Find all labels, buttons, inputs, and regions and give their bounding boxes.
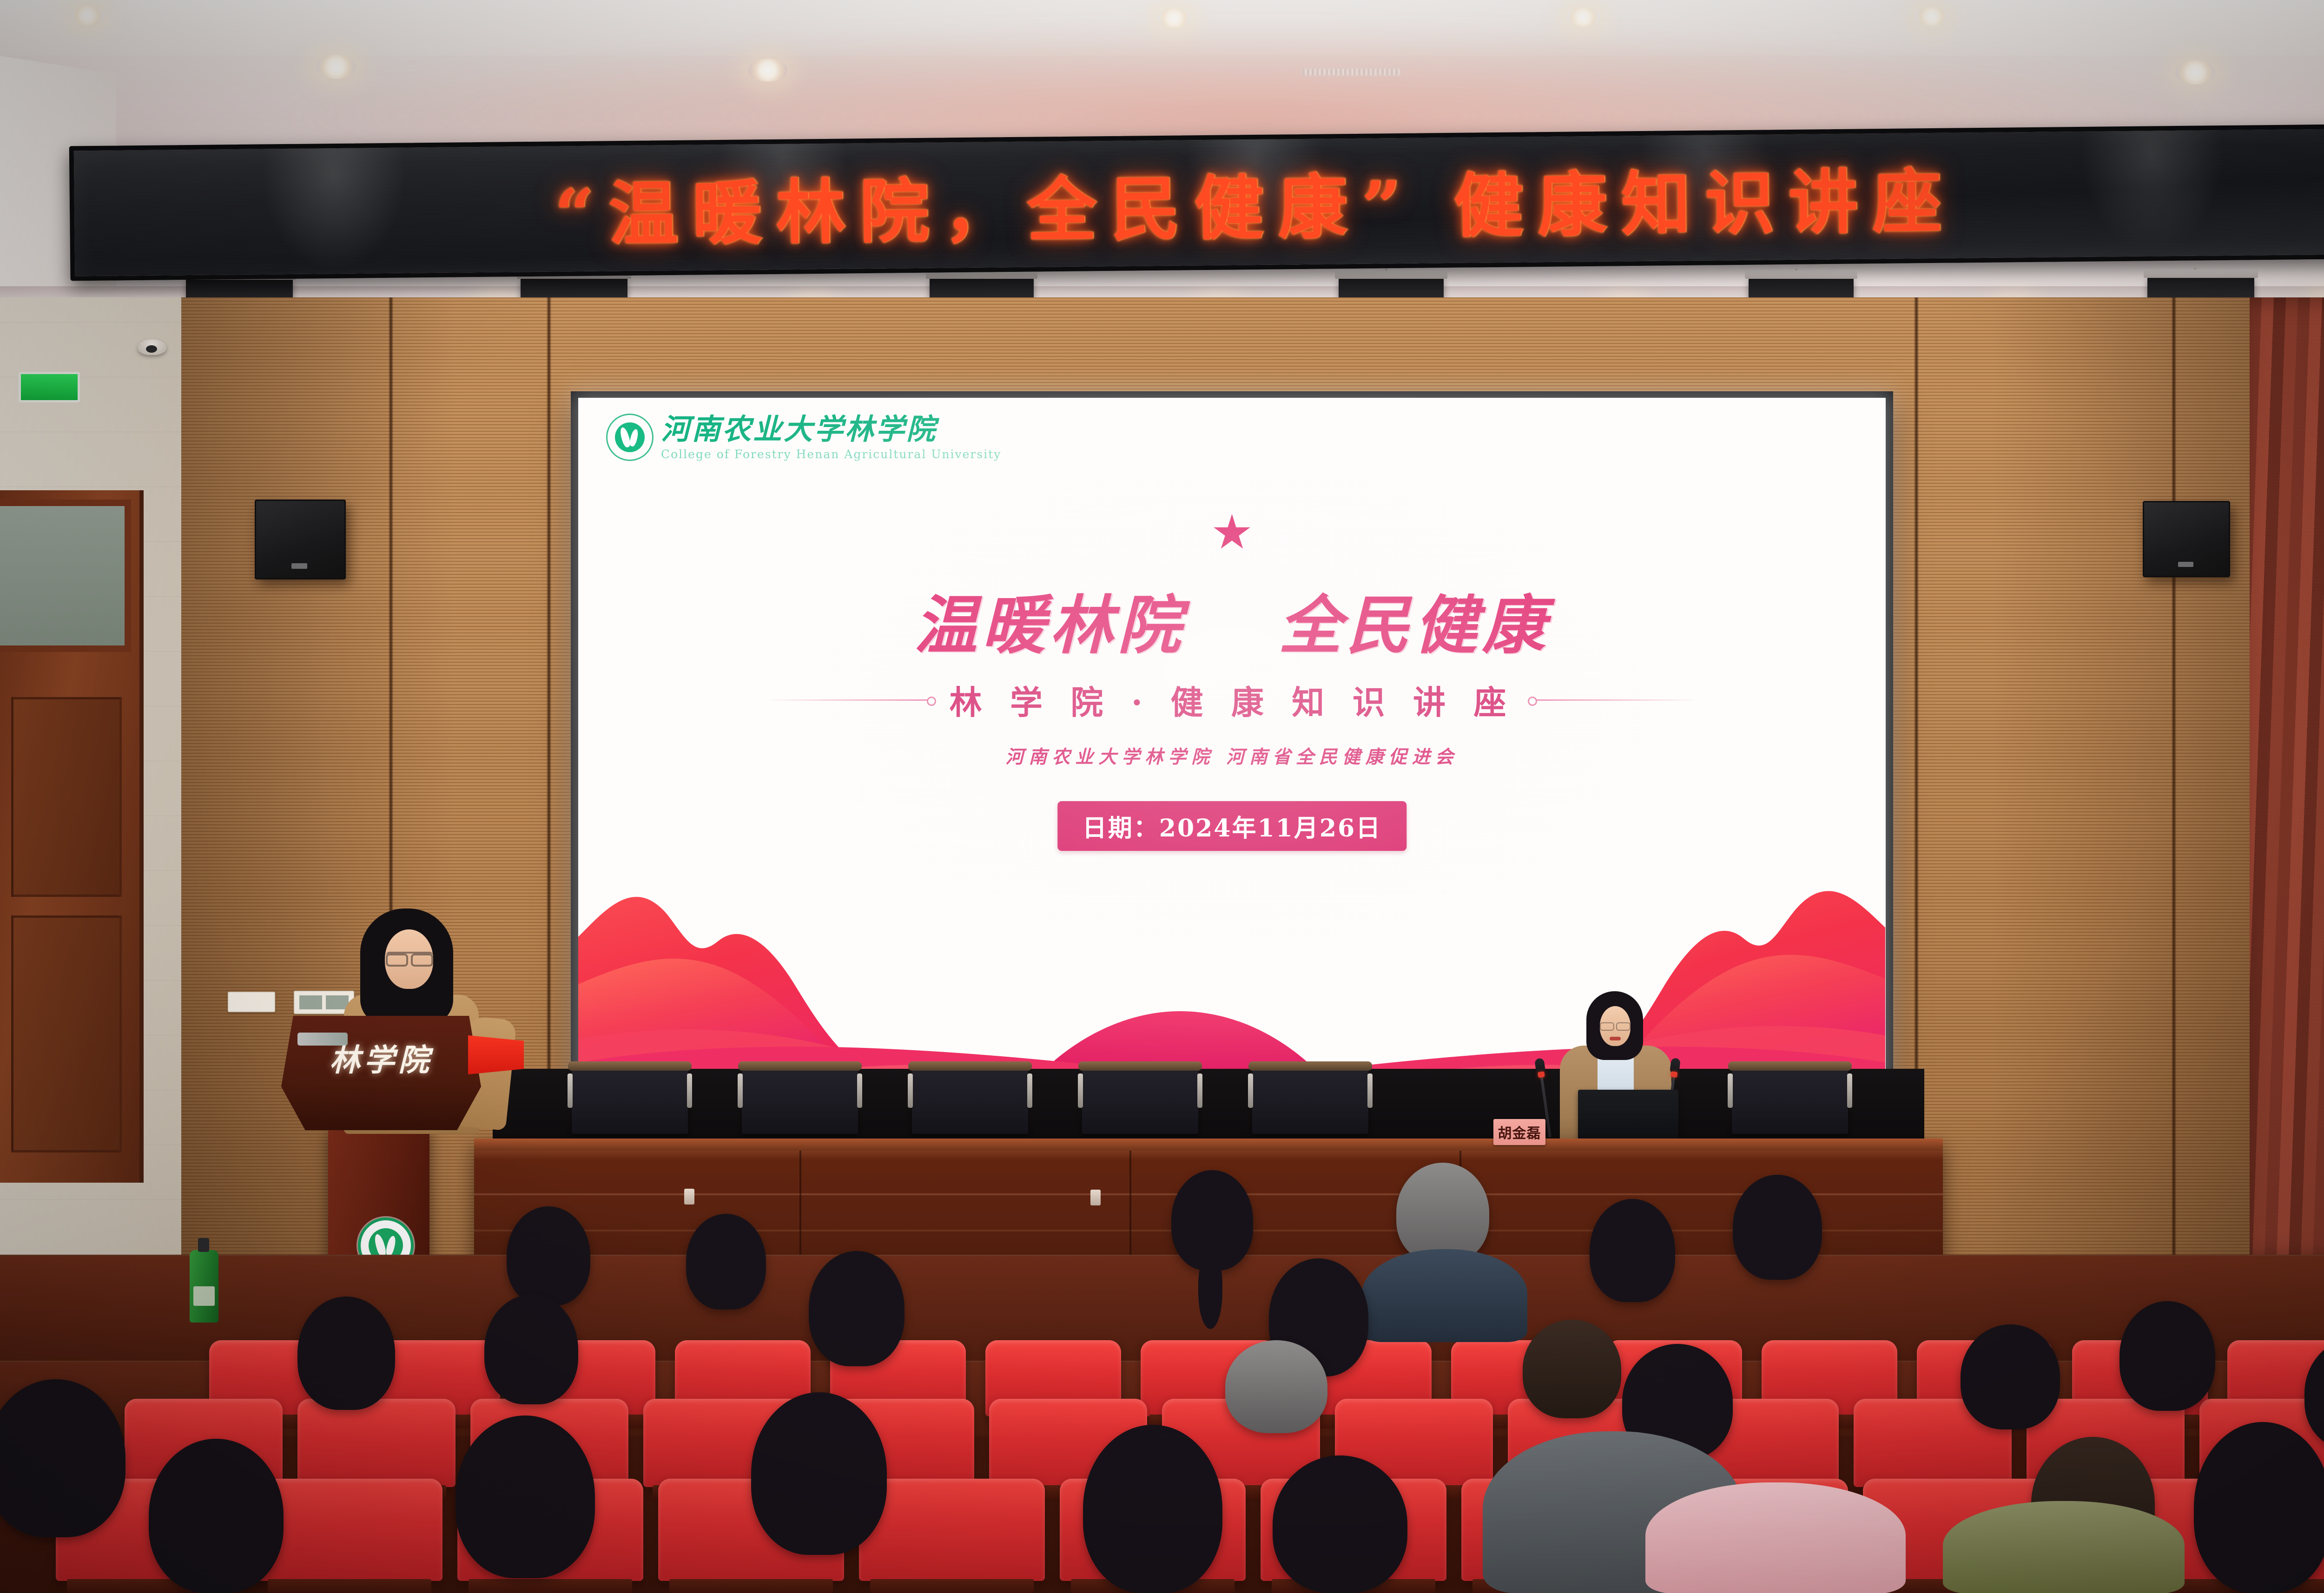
audience-head xyxy=(484,1295,578,1404)
conference-chair[interactable] xyxy=(1082,1069,1198,1134)
chair-arm-right xyxy=(857,1073,862,1108)
audience-head xyxy=(1590,1199,1675,1302)
auditorium-photo: “温暖林院，全民健康” 健康知识讲座 河南农业大学林学院 College of … xyxy=(0,0,2324,1593)
seat-base xyxy=(669,1579,833,1593)
slide-logo: 河南农业大学林学院 College of Forestry Henan Agri… xyxy=(606,414,1001,461)
chair-arm-left xyxy=(1078,1073,1083,1108)
red-star-icon xyxy=(1213,514,1251,552)
slide-logo-cn: 河南农业大学林学院 xyxy=(661,415,1001,444)
seat-base xyxy=(870,1579,1034,1593)
ceiling-downlight xyxy=(2175,60,2215,85)
glasses-icon xyxy=(386,952,433,964)
slide-title-left: 温暖林院 xyxy=(914,574,1186,666)
laptop[interactable] xyxy=(1578,1090,1678,1140)
slide-logo-en: College of Forestry Henan Agricultural U… xyxy=(661,448,1001,460)
audience-head xyxy=(686,1214,766,1310)
led-banner-text: “温暖林院，全民健康” 健康知识讲座 xyxy=(554,145,1956,259)
door-panel xyxy=(11,915,122,1152)
window-curtain xyxy=(2250,297,2324,1259)
audience-head xyxy=(1225,1340,1327,1433)
chair-arm-right xyxy=(687,1073,692,1108)
audience-head xyxy=(2194,1422,2324,1593)
audience-head xyxy=(456,1415,595,1578)
conference-chair[interactable] xyxy=(572,1069,688,1134)
security-camera-icon xyxy=(138,339,166,355)
chair-arm-left xyxy=(1248,1073,1253,1108)
led-banner: “温暖林院，全民健康” 健康知识讲座 xyxy=(69,124,2324,281)
audience-shoulders xyxy=(1645,1482,1906,1593)
slide-title-right: 全民健康 xyxy=(1279,574,1550,666)
table-back-shadow xyxy=(493,1069,1924,1139)
chair-arm-left xyxy=(568,1073,573,1108)
audience-head xyxy=(1396,1163,1489,1263)
audience-head xyxy=(809,1251,905,1366)
audience-head xyxy=(1523,1320,1621,1418)
podium-red-banner xyxy=(468,1035,524,1074)
wall-switch-plate[interactable] xyxy=(228,992,275,1012)
fire-extinguisher xyxy=(190,1250,218,1323)
slide-organizers: 河南农业大学林学院 河南省全民健康促进会 xyxy=(578,743,1886,769)
ceiling-downlight xyxy=(316,55,356,79)
chair-arm-right xyxy=(1847,1073,1852,1108)
audience-head xyxy=(149,1439,284,1593)
hvac-vent xyxy=(1301,68,1401,76)
wall-speaker-right xyxy=(2143,501,2230,577)
ceiling-downlight xyxy=(1915,7,1948,26)
audience-head xyxy=(507,1206,590,1306)
wall-panel-seam xyxy=(2172,297,2176,1255)
subtitle-rule-right xyxy=(1532,699,1699,701)
audience-seat[interactable] xyxy=(297,1399,456,1487)
audience-head xyxy=(297,1297,395,1410)
chair-arm-left xyxy=(908,1073,913,1108)
slide-title-row: 温暖林院 全民健康 xyxy=(578,574,1886,666)
audience-head xyxy=(1083,1425,1222,1593)
slide-subtitle-row: 林 学 院 · 健 康 知 识 讲 座 xyxy=(578,677,1886,724)
spotlight-yoke xyxy=(1335,270,1447,279)
ceiling-downlight xyxy=(1157,8,1191,28)
glasses-icon xyxy=(1600,1022,1631,1029)
conference-chair[interactable] xyxy=(1252,1069,1368,1134)
audience-head xyxy=(2119,1301,2215,1411)
audience-head xyxy=(1273,1455,1407,1593)
mountain-layer-back xyxy=(578,821,1885,1081)
ceiling-downlight xyxy=(748,59,787,82)
name-plate-text: 胡金磊 xyxy=(1498,1122,1541,1142)
exit-sign-glow xyxy=(21,374,78,400)
table-latch xyxy=(684,1189,694,1205)
audience-head xyxy=(751,1392,887,1555)
ceiling-downlight xyxy=(71,6,104,25)
table-top-edge xyxy=(474,1139,1943,1151)
spotlight-yoke xyxy=(2144,270,2258,278)
projection-screen: 河南农业大学林学院 College of Forestry Henan Agri… xyxy=(578,398,1886,1081)
slide-mountain-graphic xyxy=(578,821,1886,1081)
chair-arm-left xyxy=(1728,1073,1733,1108)
conference-chair[interactable] xyxy=(1732,1069,1848,1134)
seat-base xyxy=(469,1579,632,1593)
podium-control-panel[interactable] xyxy=(297,1033,348,1046)
audience-shoulders xyxy=(1943,1501,2185,1593)
wall-speaker-left xyxy=(255,500,346,579)
audience-ponytail xyxy=(1198,1255,1222,1329)
exit-sign xyxy=(19,372,80,402)
slide-logo-texts: 河南农业大学林学院 College of Forestry Henan Agri… xyxy=(661,415,1001,460)
slide-subtitle: 林 学 院 · 健 康 知 识 讲 座 xyxy=(950,677,1515,724)
audience-shoulders xyxy=(1362,1249,1527,1342)
projection-screen-frame: 河南农业大学林学院 College of Forestry Henan Agri… xyxy=(571,391,1893,1087)
chair-arm-right xyxy=(1367,1073,1373,1108)
audience-seat[interactable] xyxy=(859,1479,1045,1581)
logo-glyph xyxy=(615,422,645,452)
table-latch xyxy=(1090,1190,1101,1205)
audience-head xyxy=(1961,1324,2060,1429)
chair-arm-left xyxy=(738,1073,743,1108)
university-logo-icon xyxy=(606,414,654,461)
spotlight-yoke xyxy=(1745,270,1857,279)
conference-chair[interactable] xyxy=(912,1069,1028,1134)
audience-head xyxy=(1733,1175,1822,1280)
ceiling-downlight xyxy=(1566,7,1600,27)
name-plate: 胡金磊 xyxy=(1493,1119,1545,1145)
conference-chair[interactable] xyxy=(742,1069,858,1134)
chair-arm-right xyxy=(1027,1073,1032,1108)
audience-seat[interactable] xyxy=(257,1479,442,1581)
seat-base xyxy=(268,1579,431,1593)
chair-arm-right xyxy=(1197,1073,1202,1108)
seated-presenter-mouth xyxy=(1610,1037,1621,1040)
subtitle-rule-left xyxy=(765,699,932,701)
door-glass-pane xyxy=(0,500,131,652)
door-panel xyxy=(11,697,122,897)
